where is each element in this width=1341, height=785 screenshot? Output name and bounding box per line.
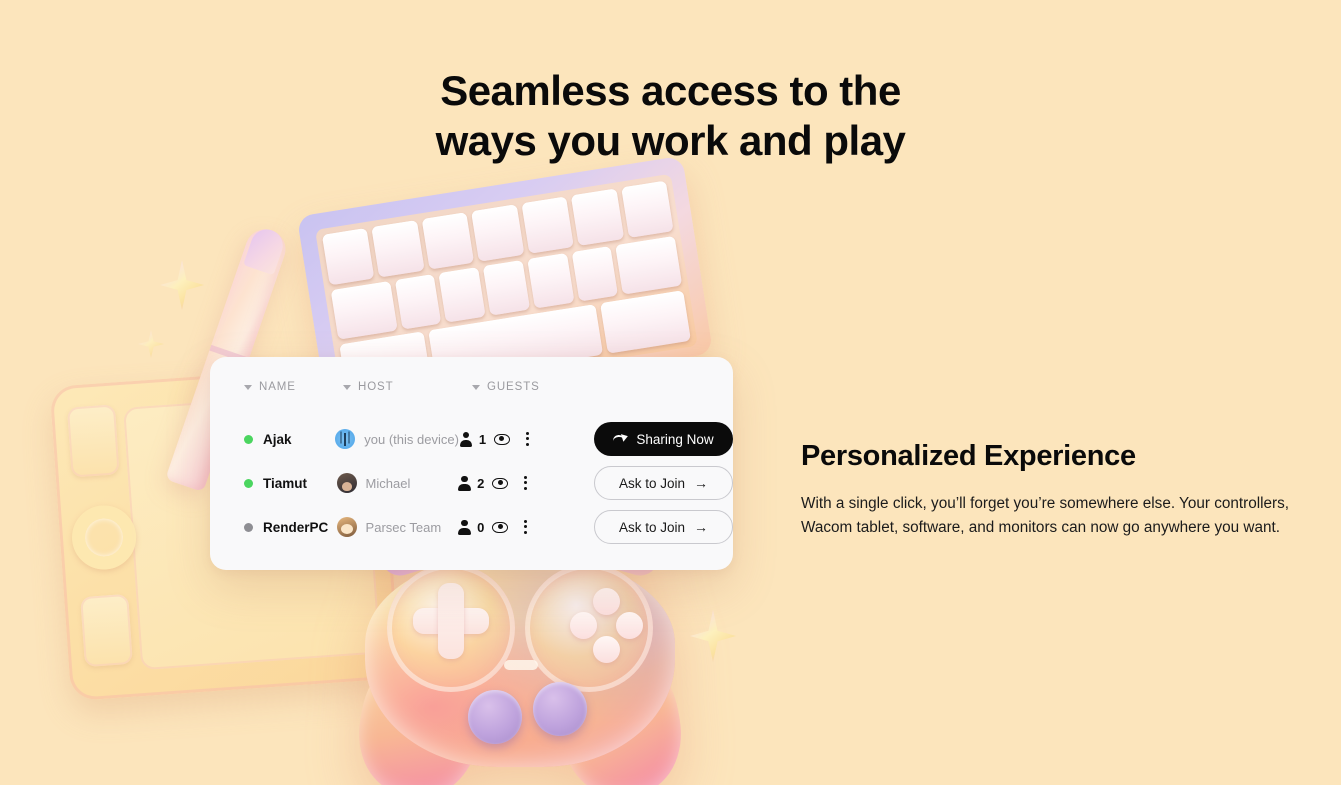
- eye-icon[interactable]: [489, 426, 515, 452]
- keycap: [571, 246, 618, 302]
- guest-count: 0: [477, 520, 487, 535]
- keycap: [322, 228, 375, 285]
- cell-name: Ajak: [244, 432, 335, 447]
- table-row[interactable]: Tiamut Michael 2 Ask to Join →: [210, 461, 733, 505]
- status-dot-online-icon: [244, 479, 253, 488]
- keycap: [615, 236, 682, 295]
- cell-action: Ask to Join →: [588, 510, 733, 544]
- sparkle-icon: [690, 610, 736, 662]
- eye-icon[interactable]: [487, 470, 513, 496]
- keycap: [394, 274, 441, 330]
- controller-face-button: [570, 612, 597, 639]
- device-name: Ajak: [263, 432, 292, 447]
- avatar: [335, 429, 355, 449]
- kebab-menu-icon[interactable]: [513, 470, 539, 496]
- arrow-right-icon: →: [694, 476, 708, 490]
- cell-action: Sharing Now: [588, 422, 733, 456]
- share-icon: [613, 433, 627, 445]
- keycap: [483, 260, 530, 316]
- host-name: Parsec Team: [366, 520, 442, 535]
- ask-to-join-label: Ask to Join: [619, 520, 685, 535]
- controller-thumbstick-left: [468, 690, 522, 744]
- keycap: [600, 291, 691, 354]
- device-name: RenderPC: [263, 520, 328, 535]
- eye-icon[interactable]: [487, 514, 513, 540]
- avatar: [337, 517, 357, 537]
- keycap: [422, 212, 475, 269]
- cell-host: you (this device): [335, 429, 459, 449]
- ask-to-join-button[interactable]: Ask to Join →: [594, 466, 733, 500]
- kebab-menu-icon[interactable]: [515, 426, 541, 452]
- table-header-row: NAME HOST GUESTS: [210, 357, 733, 417]
- controller-face-button: [616, 612, 643, 639]
- sharing-now-label: Sharing Now: [636, 432, 713, 447]
- kebab-menu-icon[interactable]: [513, 514, 539, 540]
- guest-count: 2: [477, 476, 487, 491]
- cell-guests: 0: [457, 514, 588, 540]
- keycap: [521, 196, 574, 253]
- keycap: [571, 188, 624, 245]
- keycap: [527, 253, 574, 309]
- tablet-ring-control: [70, 503, 138, 571]
- keycap: [372, 220, 425, 277]
- cell-guests: 2: [457, 470, 588, 496]
- pen-cap: [243, 225, 287, 275]
- column-header-guests[interactable]: GUESTS: [472, 381, 612, 393]
- feature-description: With a single click, you’ll forget you’r…: [801, 492, 1313, 540]
- table-row[interactable]: RenderPC Parsec Team 0 Ask to Join →: [210, 505, 733, 549]
- sort-caret-down-icon[interactable]: [343, 385, 351, 390]
- table-row[interactable]: Ajak you (this device) 1 Sharing Now: [210, 417, 733, 461]
- controller-face-button: [593, 636, 620, 663]
- feature-copy-block: Personalized Experience With a single cl…: [801, 438, 1313, 541]
- tablet-button-bottom: [80, 594, 133, 667]
- controller-thumbstick-right: [533, 682, 587, 736]
- dpad-icon: [438, 583, 464, 659]
- cell-guests: 1: [459, 426, 588, 452]
- cell-name: Tiamut: [244, 476, 337, 491]
- host-name: you (this device): [364, 432, 459, 447]
- cell-host: Parsec Team: [337, 517, 458, 537]
- tablet-button-top: [67, 404, 120, 477]
- controller-center-slot: [504, 660, 538, 670]
- ask-to-join-label: Ask to Join: [619, 476, 685, 491]
- sort-caret-down-icon[interactable]: [472, 385, 480, 390]
- person-icon: [457, 520, 471, 535]
- person-icon: [457, 476, 471, 491]
- keycap: [439, 267, 486, 323]
- keycap: [331, 281, 398, 340]
- sparkle-icon: [138, 330, 164, 358]
- device-list-panel: NAME HOST GUESTS Ajak you (this device) …: [210, 357, 733, 570]
- person-icon: [459, 432, 473, 447]
- cell-host: Michael: [337, 473, 458, 493]
- column-header-name[interactable]: NAME: [244, 381, 343, 393]
- page-headline: Seamless access to the ways you work and…: [0, 66, 1341, 167]
- sparkle-icon: [160, 260, 204, 310]
- status-dot-offline-icon: [244, 523, 253, 532]
- avatar: [337, 473, 357, 493]
- controller-face-button: [593, 588, 620, 615]
- keycap: [621, 181, 674, 238]
- sharing-now-button[interactable]: Sharing Now: [594, 422, 733, 456]
- host-name: Michael: [366, 476, 411, 491]
- keycap: [471, 204, 524, 261]
- guest-count: 1: [479, 432, 489, 447]
- cell-action: Ask to Join →: [588, 466, 733, 500]
- column-header-name-label: NAME: [259, 381, 296, 393]
- cell-name: RenderPC: [244, 520, 337, 535]
- column-header-host[interactable]: HOST: [343, 381, 472, 393]
- sort-caret-down-icon[interactable]: [244, 385, 252, 390]
- status-dot-online-icon: [244, 435, 253, 444]
- column-header-guests-label: GUESTS: [487, 381, 540, 393]
- ask-to-join-button[interactable]: Ask to Join →: [594, 510, 733, 544]
- feature-title: Personalized Experience: [801, 438, 1313, 474]
- column-header-host-label: HOST: [358, 381, 394, 393]
- device-name: Tiamut: [263, 476, 307, 491]
- arrow-right-icon: →: [694, 520, 708, 534]
